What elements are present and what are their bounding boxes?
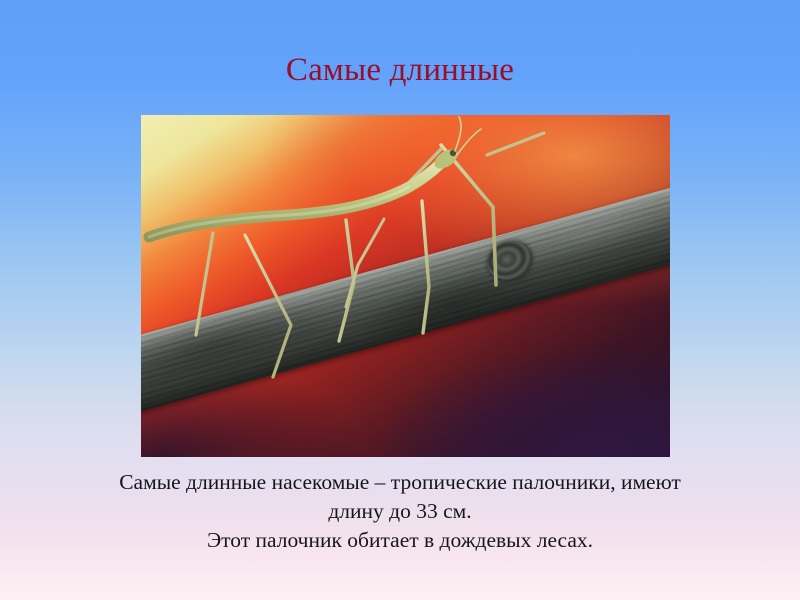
caption-line-3: Этот палочник обитает в дождевых лесах.	[30, 526, 770, 555]
caption-block: Самые длинные насекомые – тропические па…	[30, 468, 770, 555]
insect-photo	[141, 115, 670, 457]
branch-shading	[141, 177, 670, 419]
tree-branch	[141, 177, 670, 419]
page-title: Самые длинные	[0, 50, 800, 90]
caption-line-2: длину до 33 см.	[30, 497, 770, 526]
caption-line-1: Самые длинные насекомые – тропические па…	[30, 468, 770, 497]
slide-canvas: Самые длинные	[0, 0, 800, 600]
branch-group	[141, 115, 670, 457]
